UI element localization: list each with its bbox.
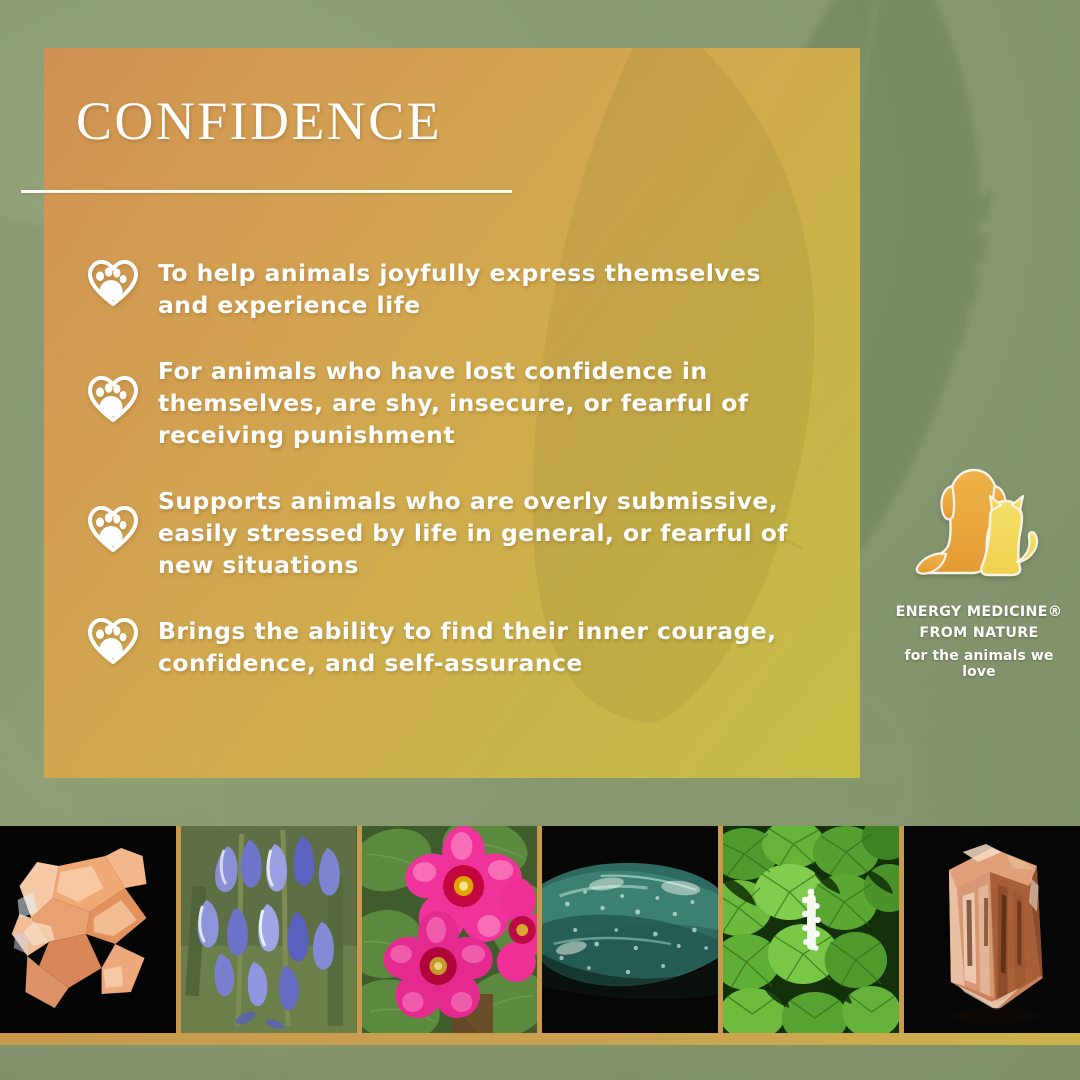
paw-heart-icon <box>88 260 138 306</box>
list-item-label: Brings the ability to find their inner c… <box>158 616 798 680</box>
image-strip <box>0 826 1080 1044</box>
brand-logo: ENERGY MEDICINE® FROM NATURE for the ani… <box>886 462 1072 680</box>
green-leaves-photo <box>723 826 899 1033</box>
paw-heart-icon <box>88 376 138 422</box>
strip-image-orange-crystal[interactable] <box>0 826 176 1033</box>
page-title: CONFIDENCE <box>76 94 442 148</box>
green-fuchsite-stone-photo <box>542 826 718 1033</box>
list-item: For animals who have lost confidence in … <box>88 356 818 452</box>
topaz-crystal-photo <box>904 826 1080 1033</box>
strip-image-green-leaves[interactable] <box>723 826 899 1033</box>
bluebell-flowers-photo <box>181 826 357 1033</box>
strip-image-bluebells[interactable] <box>181 826 357 1033</box>
orange-aragonite-crystal-photo <box>0 826 176 1033</box>
list-item: Supports animals who are overly submissi… <box>88 486 818 582</box>
strip-image-pink-primrose[interactable] <box>362 826 538 1033</box>
strip-image-topaz-crystal[interactable] <box>904 826 1080 1033</box>
list-item: Brings the ability to find their inner c… <box>88 616 818 680</box>
paw-heart-icon <box>88 506 138 552</box>
pink-primrose-flowers-photo <box>362 826 538 1033</box>
list-item: To help animals joyfully express themsel… <box>88 258 818 322</box>
list-item-label: Supports animals who are overly submissi… <box>158 486 798 582</box>
image-strip-bottom-border <box>0 1033 1080 1045</box>
list-item-label: For animals who have lost confidence in … <box>158 356 798 452</box>
bullet-list: To help animals joyfully express themsel… <box>88 258 818 714</box>
dog-and-cat-silhouette-icon <box>904 462 1054 602</box>
logo-line-1: ENERGY MEDICINE® <box>886 602 1072 623</box>
logo-line-2: FROM NATURE <box>886 623 1072 644</box>
poster-canvas: CONFIDENCE To help animals joyfully expr… <box>0 0 1080 1080</box>
list-item-label: To help animals joyfully express themsel… <box>158 258 798 322</box>
strip-image-green-stone[interactable] <box>542 826 718 1033</box>
logo-tagline: for the animals we love <box>886 648 1072 680</box>
title-divider <box>21 190 512 193</box>
paw-heart-icon <box>88 618 138 664</box>
